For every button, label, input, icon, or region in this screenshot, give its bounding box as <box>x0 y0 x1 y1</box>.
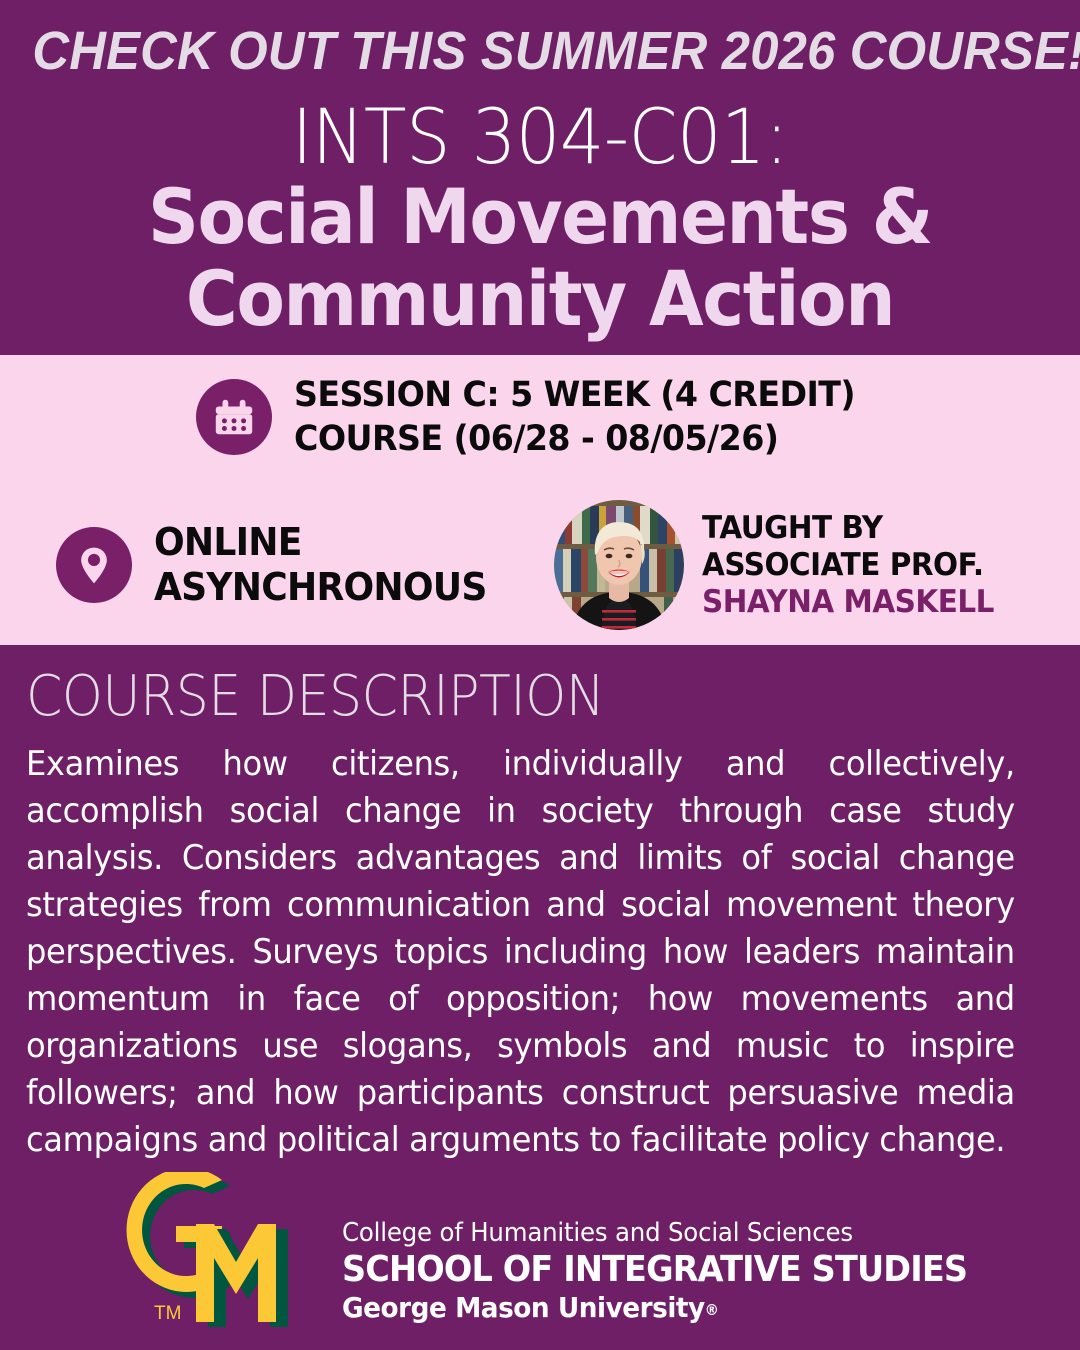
instructor-line-2: ASSOCIATE PROF. <box>702 547 994 584</box>
description-body: Examines how citizens, individually and … <box>26 740 1015 1163</box>
course-title-line-1: Social Movements & <box>38 176 1042 258</box>
info-band: SESSION C: 5 WEEK (4 CREDIT) COURSE (06/… <box>0 355 1080 645</box>
mode-line-2: ASYNCHRONOUS <box>154 565 487 610</box>
instructor-name: SHAYNA MASKELL <box>702 584 994 621</box>
logo-university-text: George Mason University <box>342 1291 705 1324</box>
logo-university-line: George Mason University® <box>342 1291 981 1327</box>
course-title: Social Movements & Community Action <box>38 176 1042 340</box>
course-flyer: CHECK OUT THIS SUMMER 2026 COURSE! INTS … <box>0 0 1080 1350</box>
logo-school-line: SCHOOL OF INTEGRATIVE STUDIES <box>342 1249 974 1291</box>
calendar-icon <box>196 379 272 455</box>
session-row: SESSION C: 5 WEEK (4 CREDIT) COURSE (06/… <box>0 373 1080 461</box>
instructor-text: TAUGHT BY ASSOCIATE PROF. SHAYNA MASKELL <box>702 510 994 621</box>
mode-instructor-row: ONLINE ASYNCHRONOUS <box>0 495 1080 635</box>
delivery-mode-text: ONLINE ASYNCHRONOUS <box>154 520 487 610</box>
instructor-photo <box>554 500 684 630</box>
session-line-2: COURSE (06/28 - 08/05/26) <box>294 417 855 461</box>
session-text: SESSION C: 5 WEEK (4 CREDIT) COURSE (06/… <box>294 373 855 461</box>
description-heading: COURSE DESCRIPTION <box>26 667 604 727</box>
course-code: INTS 304-C01: <box>43 96 1037 178</box>
logo-lockup: College of Humanities and Social Science… <box>342 1218 1022 1327</box>
instructor-line-1: TAUGHT BY <box>702 510 994 547</box>
trademark-symbol: TM <box>154 1303 181 1324</box>
course-title-line-2: Community Action <box>38 258 1042 340</box>
eyebrow-headline: CHECK OUT THIS SUMMER 2026 COURSE! <box>32 22 1047 80</box>
instructor-group: TAUGHT BY ASSOCIATE PROF. SHAYNA MASKELL <box>554 500 1009 630</box>
gmu-gm-logo-icon: TM <box>126 1172 341 1337</box>
registered-symbol: ® <box>705 1301 719 1319</box>
header-band: CHECK OUT THIS SUMMER 2026 COURSE! INTS … <box>0 0 1080 355</box>
logo-college-line: College of Humanities and Social Science… <box>342 1218 981 1249</box>
location-pin-icon <box>56 527 132 603</box>
delivery-mode-group: ONLINE ASYNCHRONOUS <box>56 520 504 610</box>
footer-logo: TM College of Humanities and Social Scie… <box>126 1172 1026 1337</box>
mode-line-1: ONLINE <box>154 520 487 565</box>
session-line-1: SESSION C: 5 WEEK (4 CREDIT) <box>294 373 855 417</box>
